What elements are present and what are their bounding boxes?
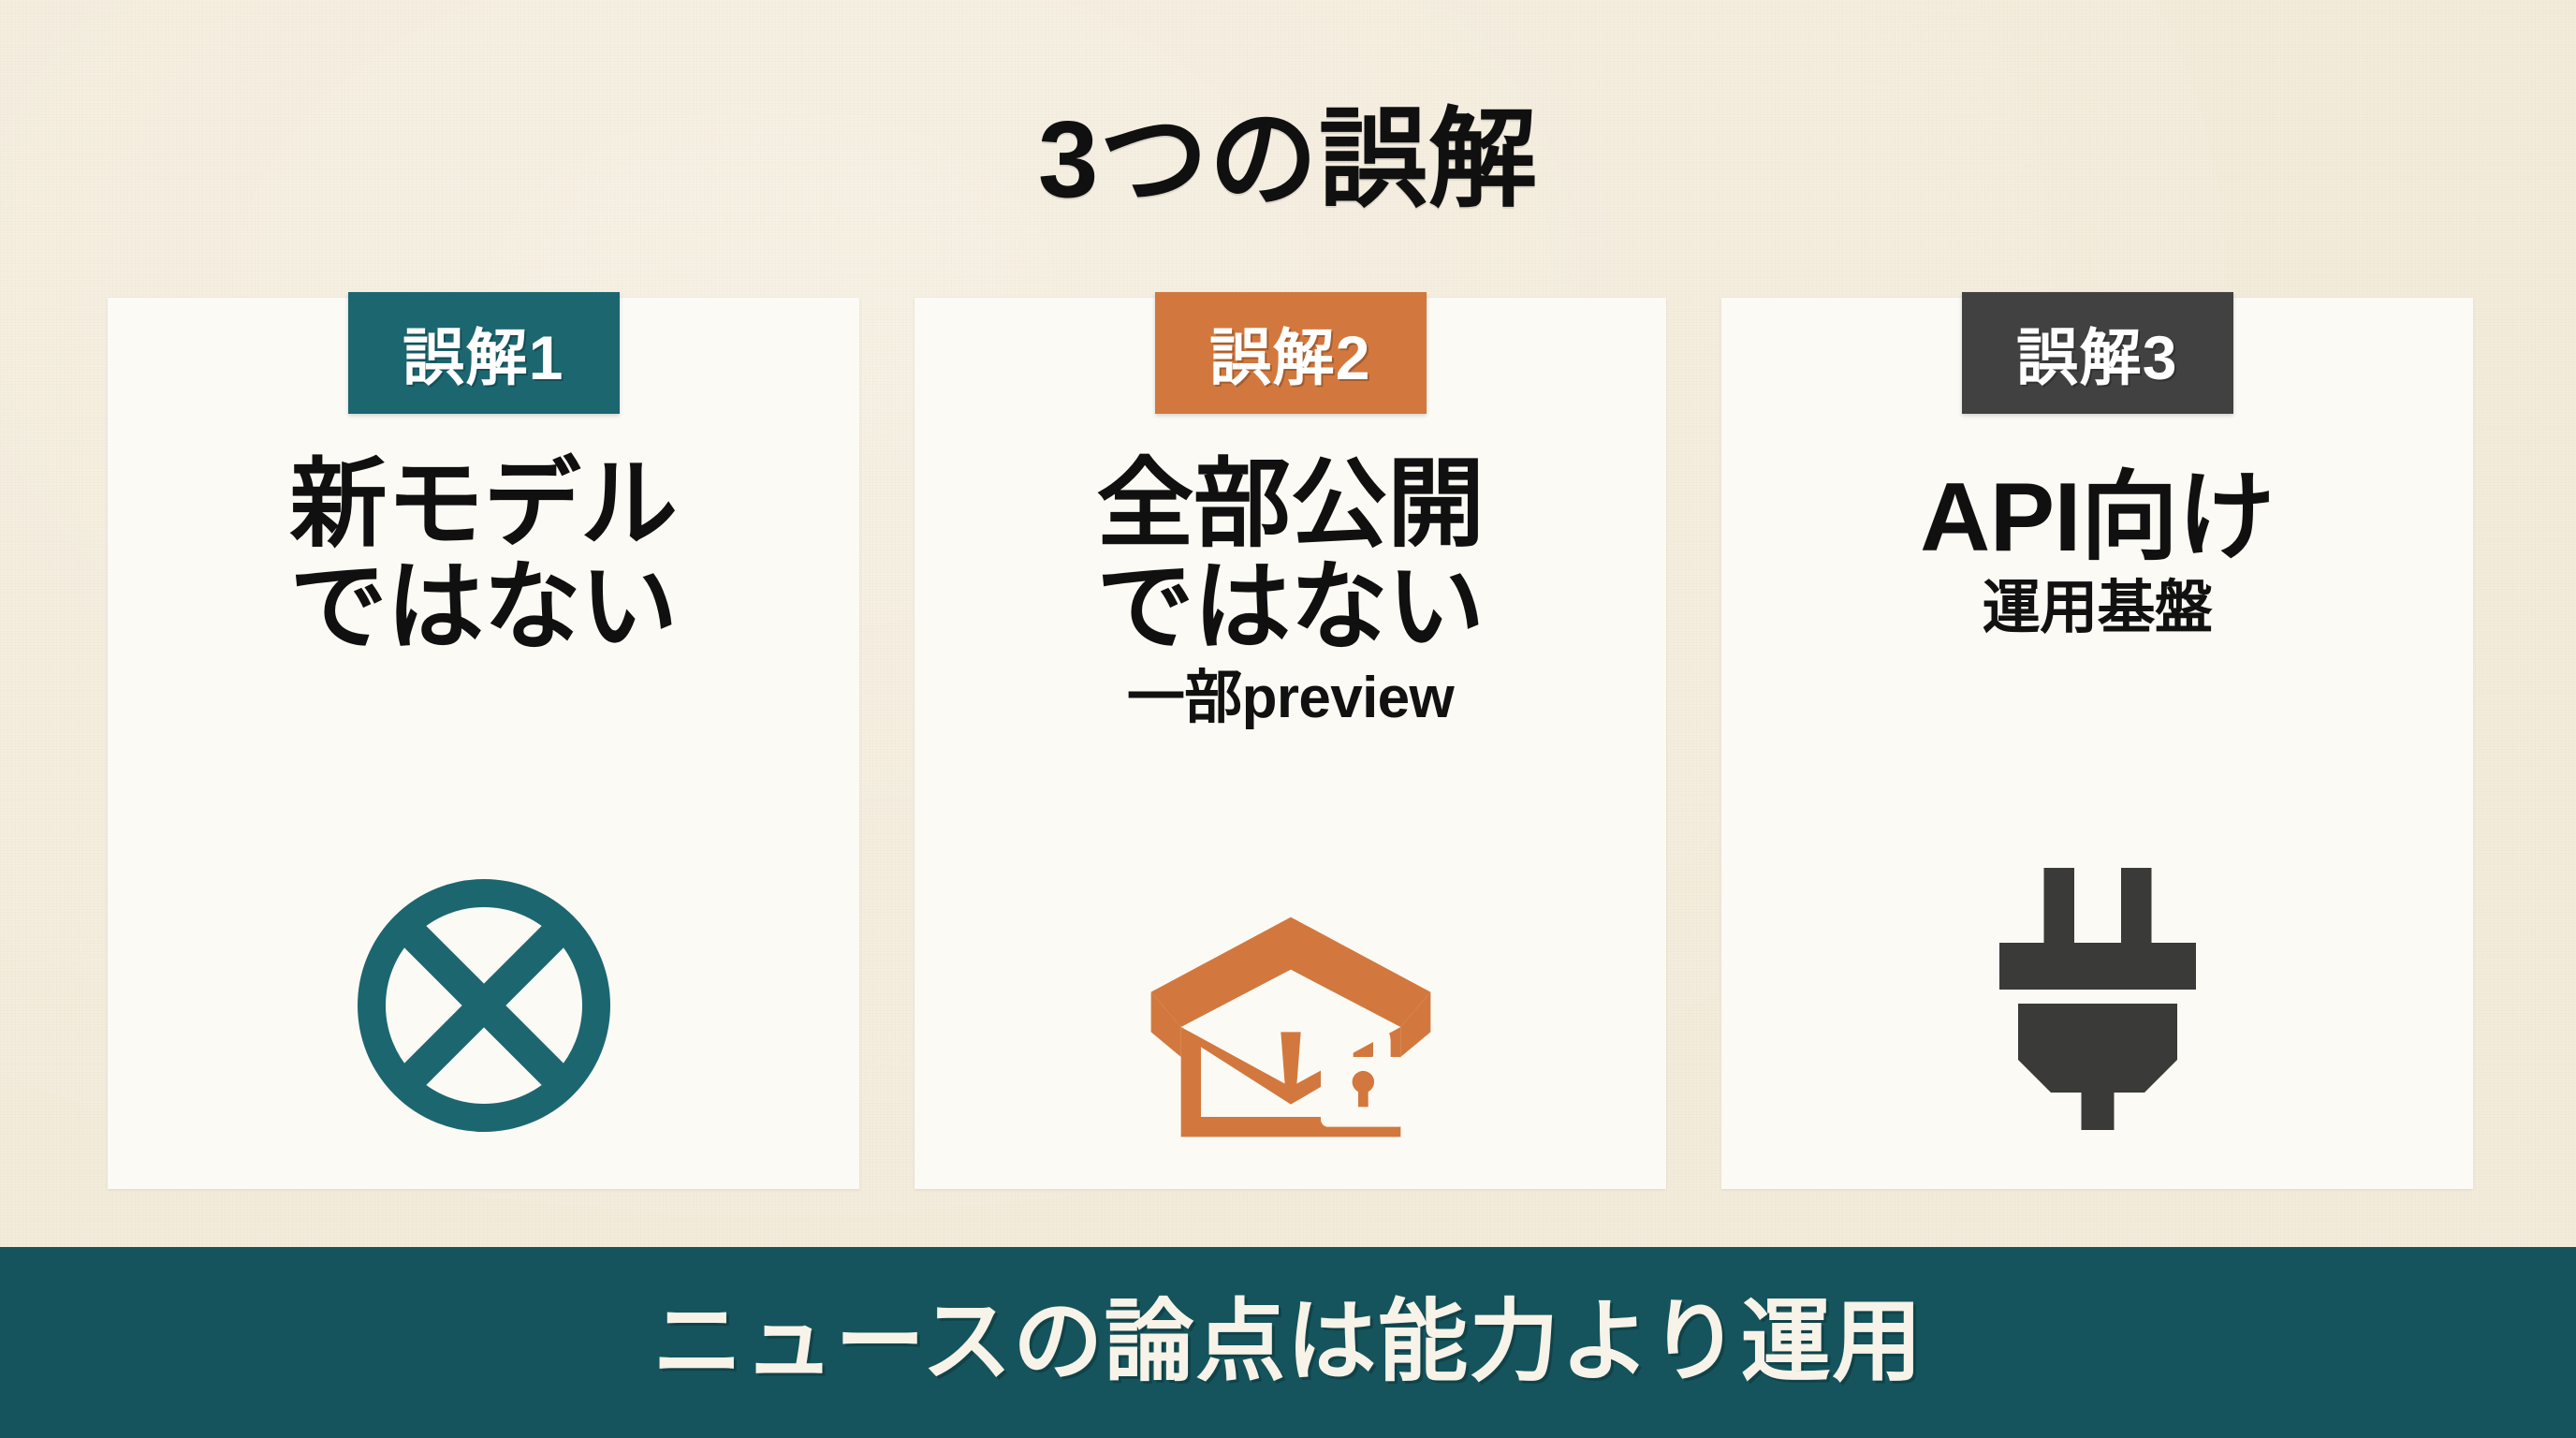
misconception-card-3: 誤解3 API向け 運用基盤 <box>1721 298 2473 1189</box>
card-2-badge: 誤解2 <box>1155 292 1427 414</box>
card-3-subtitle: 運用基盤 <box>1721 577 2473 640</box>
card-3-heading: API向け <box>1721 466 2473 569</box>
bottom-banner: ニュースの論点は能力より運用 <box>0 1247 2576 1438</box>
card-1-heading: 新モデル ではない <box>108 453 859 659</box>
card-2-icon-wrap <box>915 929 1666 1153</box>
misconception-card-group: 誤解1 新モデル ではない 誤解2 全部公開 ではない 一部preview <box>108 298 2473 1189</box>
card-2-subtitle: 一部preview <box>915 667 1666 730</box>
card-3-icon-wrap <box>1721 910 2473 1135</box>
misconception-card-2: 誤解2 全部公開 ではない 一部preview <box>915 298 1666 1189</box>
banner-text: ニュースの論点は能力より運用 <box>652 1298 1923 1387</box>
card-1-icon-wrap <box>108 921 859 1146</box>
misconception-card-1: 誤解1 新モデル ではない <box>108 298 859 1189</box>
circle-x-icon <box>344 865 624 1146</box>
card-1-badge: 誤解1 <box>348 292 620 414</box>
card-2-heading: 全部公開 ではない <box>915 453 1666 659</box>
slide-root: 3つの誤解 誤解1 新モデル ではない 誤解2 全部公開 ではない 一部prev… <box>0 0 2576 1438</box>
card-3-badge: 誤解3 <box>1962 292 2233 414</box>
locked-box-icon <box>1141 901 1441 1153</box>
power-plug-icon <box>1981 863 2215 1135</box>
page-title: 3つの誤解 <box>0 105 2576 213</box>
